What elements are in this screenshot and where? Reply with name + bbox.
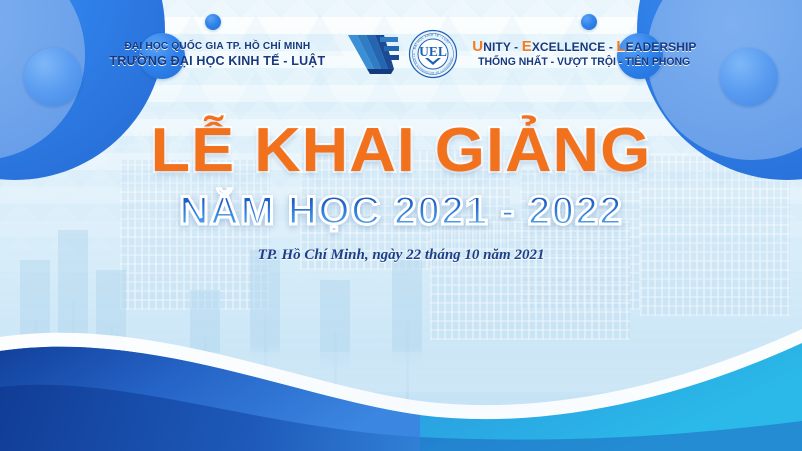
vnu-logo <box>344 29 400 79</box>
uel-logo: ĐẠI HỌC KINH TẾ - LUẬT UNIVERSITY OF ECO… <box>408 29 458 79</box>
main-title: LỄ KHAI GIẢNG <box>0 118 802 183</box>
motto-capital: L <box>616 38 625 55</box>
university-motto: UNITY - EXCELLENCE - LEADERSHIP THỐNG NH… <box>472 38 696 70</box>
bottom-wave-decoration <box>0 321 802 451</box>
university-name-line1: ĐẠI HỌC QUỐC GIA TP. HỒ CHÍ MINH <box>110 40 326 52</box>
event-date: TP. Hồ Chí Minh, ngày 22 tháng 10 năm 20… <box>0 247 802 264</box>
motto-word: EADERSHIP <box>626 40 697 54</box>
university-name-line2: TRƯỜNG ĐẠI HỌC KINH TẾ - LUẬT <box>110 53 326 68</box>
motto-english: UNITY - EXCELLENCE - LEADERSHIP <box>472 38 696 56</box>
motto-word: NITY <box>483 40 511 54</box>
motto-separator: - <box>605 40 616 54</box>
uel-logo-text: UEL <box>419 44 447 59</box>
banner-header: ĐẠI HỌC QUỐC GIA TP. HỒ CHÍ MINH TRƯỜNG … <box>0 24 802 84</box>
motto-word: XCELLENCE <box>532 40 606 54</box>
motto-capital: E <box>522 38 532 55</box>
slide-banner: ĐẠI HỌC QUỐC GIA TP. HỒ CHÍ MINH TRƯỜNG … <box>0 0 802 451</box>
motto-capital: U <box>472 38 483 55</box>
motto-separator: - <box>511 40 522 54</box>
title-block: LỄ KHAI GIẢNG NĂM HỌC 2021 - 2022 TP. Hồ… <box>0 118 802 264</box>
university-name: ĐẠI HỌC QUỐC GIA TP. HỒ CHÍ MINH TRƯỜNG … <box>105 40 330 68</box>
subtitle-year: NĂM HỌC 2021 - 2022 <box>0 189 802 233</box>
logo-group: ĐẠI HỌC KINH TẾ - LUẬT UNIVERSITY OF ECO… <box>344 29 458 79</box>
motto-vietnamese: THỐNG NHẤT - VƯỢT TRỘI - TIÊN PHONG <box>478 56 691 69</box>
